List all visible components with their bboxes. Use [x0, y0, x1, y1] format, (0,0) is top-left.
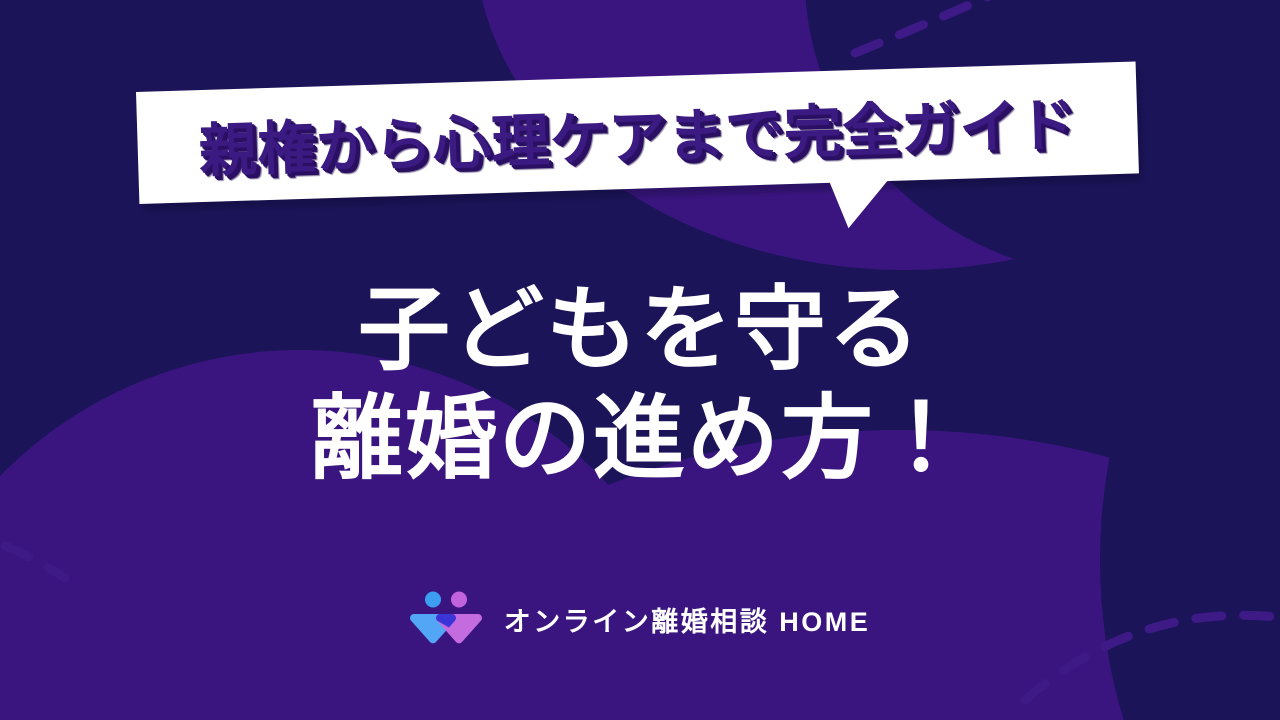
page-title: 子どもを守る 離婚の進め方！	[0, 276, 1280, 495]
ribbon-label: 親権から心理ケアまで完全ガイド	[198, 77, 1078, 188]
brand-lockup: オンライン離婚相談 HOME	[0, 590, 1280, 648]
brand-name: オンライン離婚相談 HOME	[504, 600, 871, 639]
two-people-triangles-icon	[410, 590, 482, 648]
ribbon-tail-icon	[829, 179, 890, 229]
headline-line-1: 子どもを守る	[0, 276, 1280, 385]
ribbon-banner: 親権から心理ケアまで完全ガイド	[136, 61, 1143, 262]
logo-head-right	[451, 592, 467, 608]
dashed-arc-left	[0, 530, 65, 578]
poster-canvas: 親権から心理ケアまで完全ガイド 子どもを守る 離婚の進め方！ オンライン離婚相談…	[0, 0, 1280, 720]
logo-head-left	[425, 592, 441, 608]
dashed-arc-top-right	[855, 0, 1165, 53]
headline-line-2: 離婚の進め方！	[0, 385, 1280, 494]
